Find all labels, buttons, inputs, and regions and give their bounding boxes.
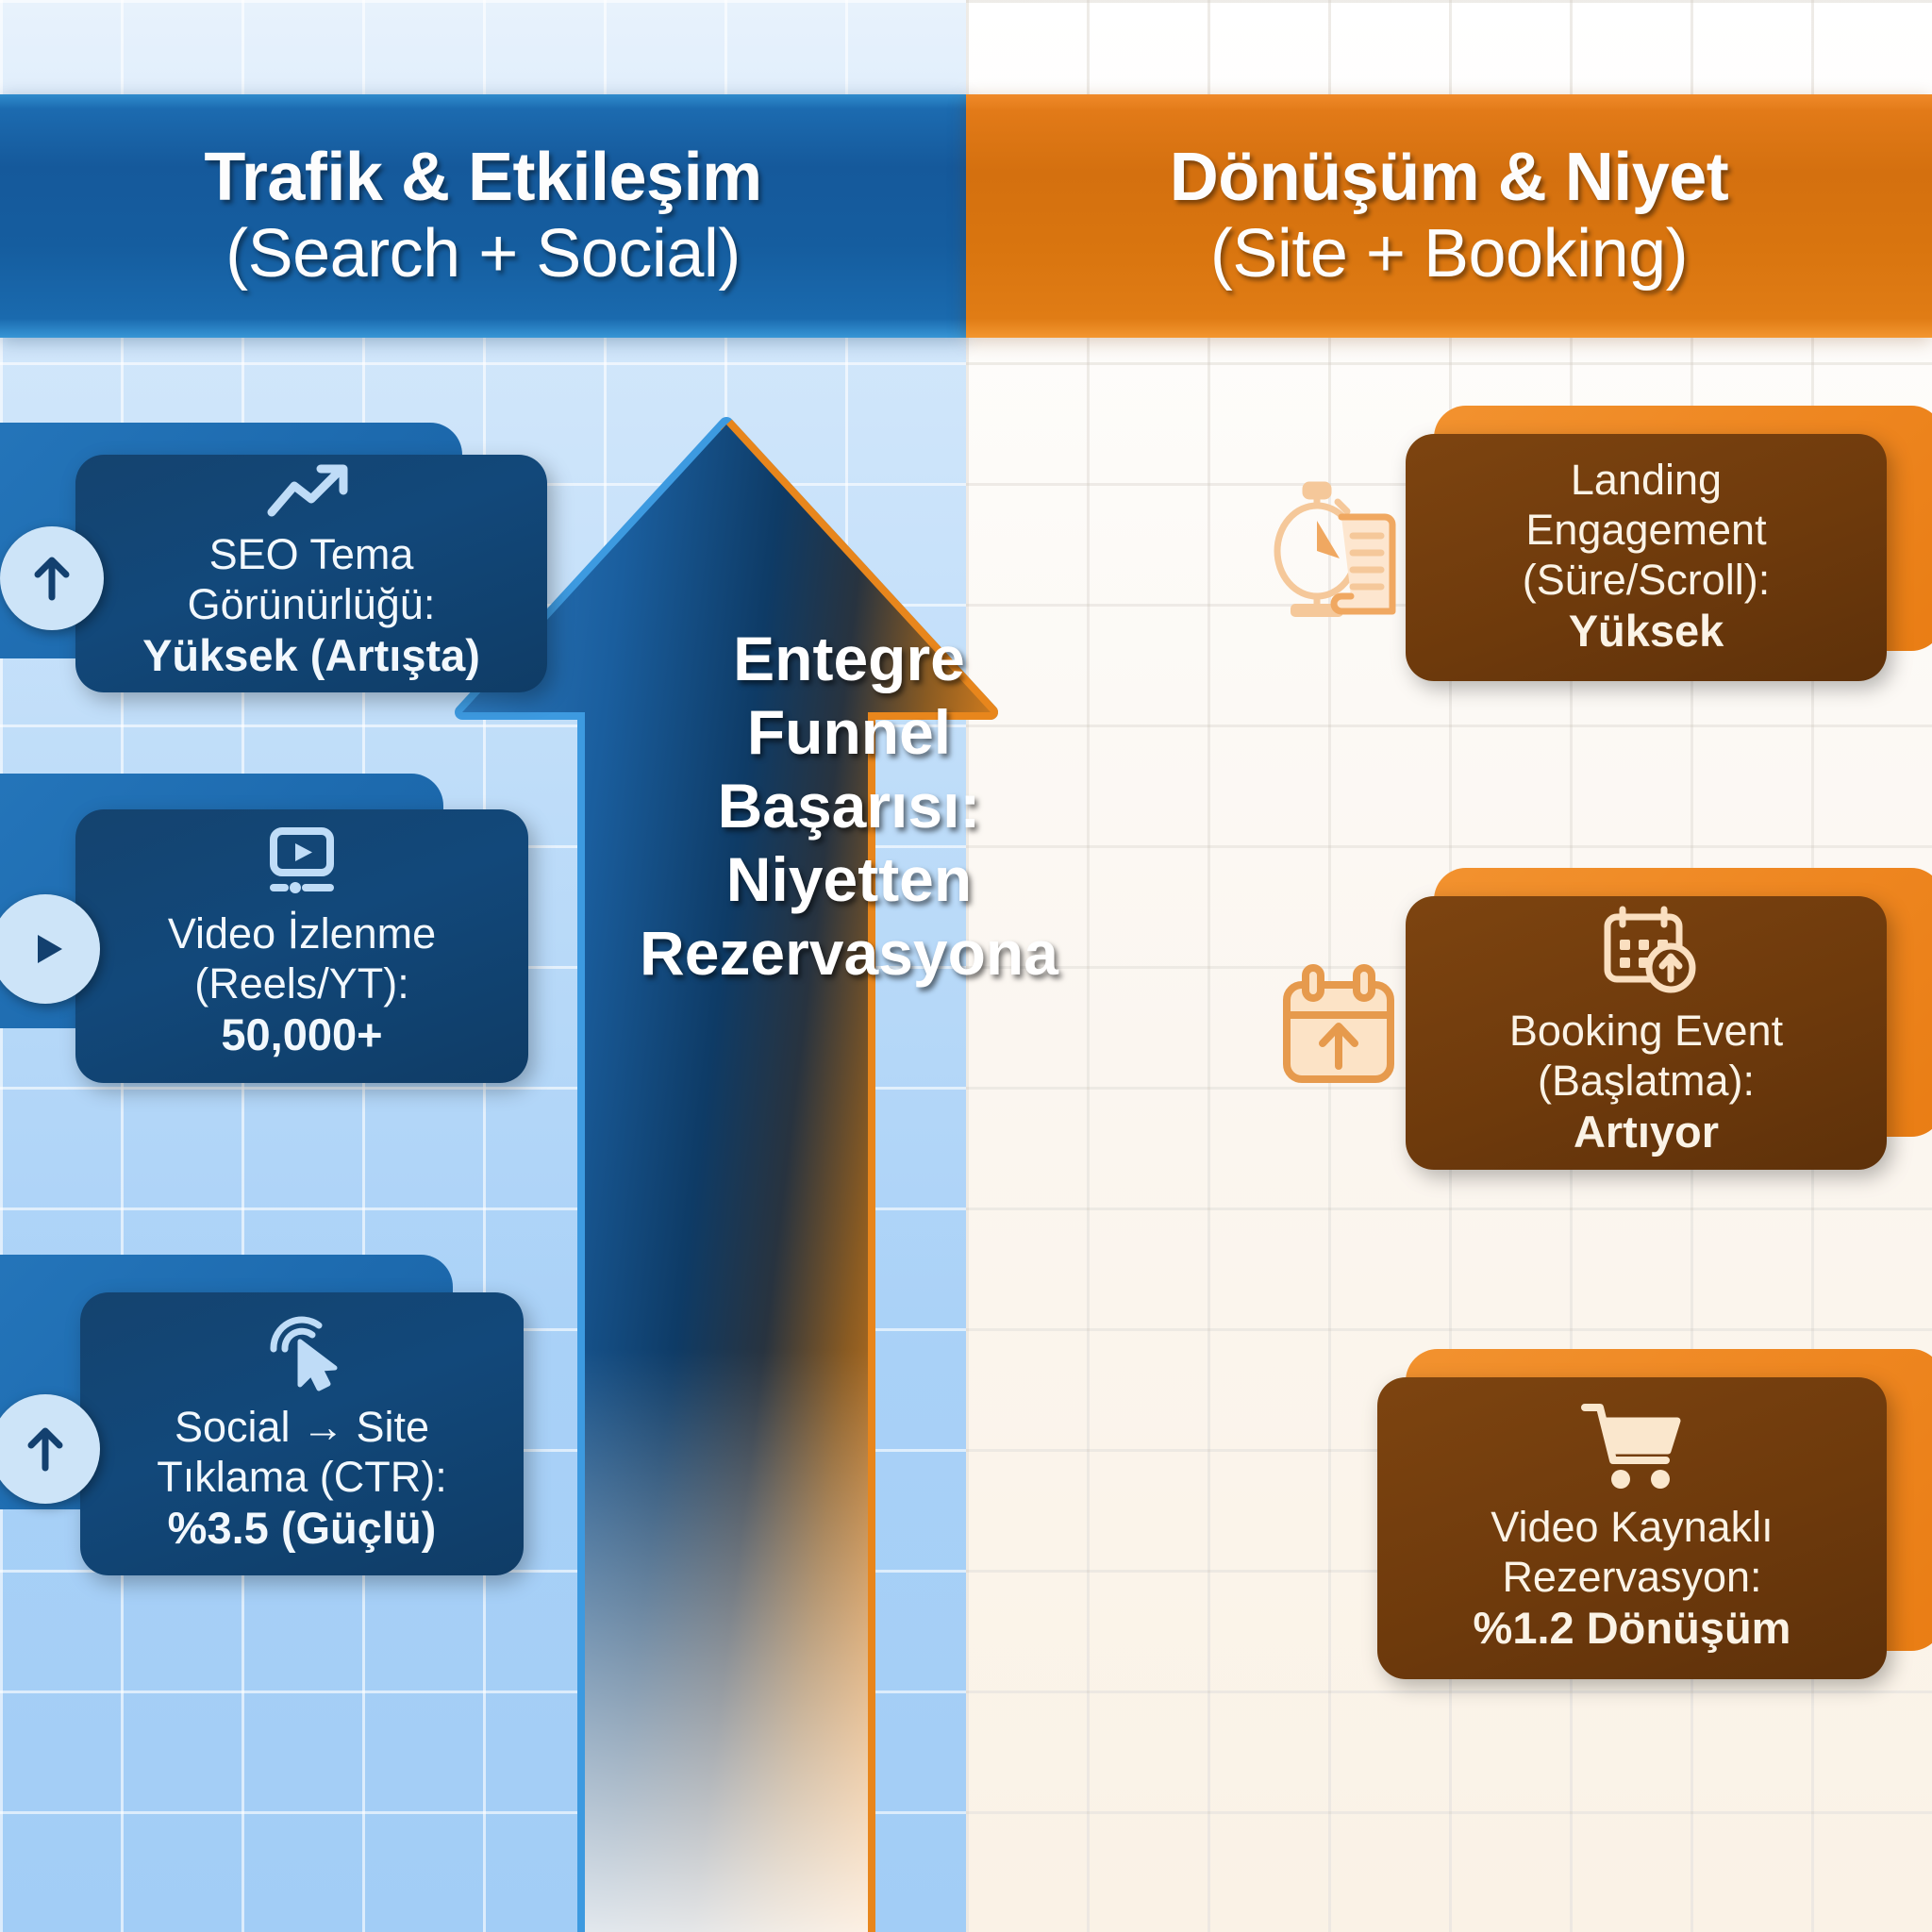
card-label: Video Kaynaklı Rezervasyon:%1.2 Dönüşüm bbox=[1474, 1502, 1791, 1655]
card-value: %3.5 (Güçlü) bbox=[157, 1502, 447, 1554]
card-body[interactable]: Landing Engagement (Süre/Scroll):Yüksek bbox=[1406, 434, 1887, 681]
card-body[interactable]: Booking Event (Başlatma):Artıyor bbox=[1406, 896, 1887, 1170]
arrow-up-circle-icon bbox=[0, 526, 104, 630]
card-body[interactable]: Social → Site Tıklama (CTR):%3.5 (Güçlü) bbox=[80, 1292, 524, 1575]
click-target-icon bbox=[260, 1309, 343, 1392]
metric-card-seo-visibility[interactable]: SEO Tema Görünürlüğü:Yüksek (Artışta) bbox=[0, 423, 547, 658]
metric-card-booking-event[interactable]: Booking Event (Başlatma):Artıyor bbox=[1283, 868, 1932, 1132]
trending-up-icon bbox=[266, 461, 357, 520]
infographic-canvas: Trafik & Etkileşim (Search + Social) Dön… bbox=[0, 0, 1932, 1932]
metric-card-video-views[interactable]: Video İzlenme (Reels/YT):50,000+ bbox=[0, 774, 547, 1019]
card-label: Booking Event (Başlatma):Artıyor bbox=[1509, 1006, 1783, 1158]
header-left-subtitle: (Search + Social) bbox=[204, 216, 761, 292]
card-label: Video İzlenme (Reels/YT):50,000+ bbox=[168, 908, 436, 1061]
header-right-title-block: Dönüşüm & Niyet (Site + Booking) bbox=[1170, 140, 1729, 291]
metric-card-social-ctr[interactable]: Social → Site Tıklama (CTR):%3.5 (Güçlü) bbox=[0, 1255, 547, 1500]
video-player-icon bbox=[257, 827, 347, 899]
card-body[interactable]: Video İzlenme (Reels/YT):50,000+ bbox=[75, 809, 528, 1083]
card-value: Yüksek bbox=[1523, 605, 1771, 657]
card-body[interactable]: Video Kaynaklı Rezervasyon:%1.2 Dönüşüm bbox=[1377, 1377, 1887, 1679]
calendar-arrow-up-icon bbox=[1274, 962, 1406, 1094]
card-body[interactable]: SEO Tema Görünürlüğü:Yüksek (Artışta) bbox=[75, 455, 547, 692]
card-value: 50,000+ bbox=[168, 1008, 436, 1060]
calendar-up-icon bbox=[1594, 904, 1698, 996]
metric-card-video-sourced-booking[interactable]: Video Kaynaklı Rezervasyon:%1.2 Dönüşüm bbox=[1283, 1349, 1932, 1651]
header-left-title-block: Trafik & Etkileşim (Search + Social) bbox=[204, 140, 761, 291]
card-label: SEO Tema Görünürlüğü:Yüksek (Artışta) bbox=[142, 529, 480, 682]
card-label: Social → Site Tıklama (CTR):%3.5 (Güçlü) bbox=[157, 1402, 447, 1555]
header-traffic-engagement: Trafik & Etkileşim (Search + Social) bbox=[0, 94, 966, 338]
header-left-title: Trafik & Etkileşim bbox=[204, 140, 761, 215]
card-value: %1.2 Dönüşüm bbox=[1474, 1602, 1791, 1654]
card-value: Artıyor bbox=[1509, 1106, 1783, 1158]
header-right-subtitle: (Site + Booking) bbox=[1170, 216, 1729, 292]
metric-card-landing-engagement[interactable]: Landing Engagement (Süre/Scroll):Yüksek bbox=[1283, 406, 1932, 651]
header-conversion-intent: Dönüşüm & Niyet (Site + Booking) bbox=[966, 94, 1932, 338]
card-label: Landing Engagement (Süre/Scroll):Yüksek bbox=[1523, 455, 1771, 658]
stopwatch-document-icon bbox=[1264, 472, 1415, 623]
shopping-cart-icon bbox=[1575, 1398, 1689, 1492]
header-right-title: Dönüşüm & Niyet bbox=[1170, 140, 1729, 215]
card-value: Yüksek (Artışta) bbox=[142, 629, 480, 681]
